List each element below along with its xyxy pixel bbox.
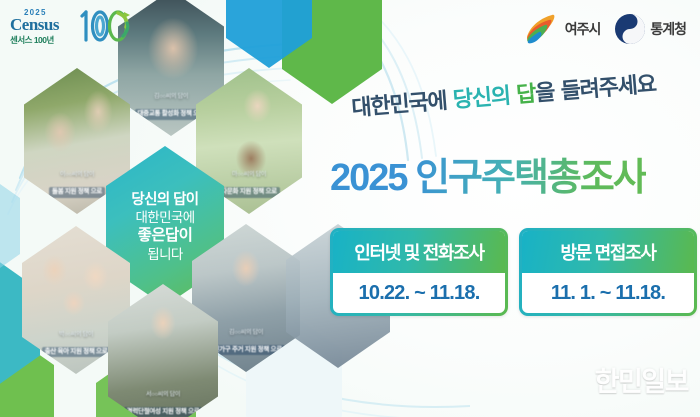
census-100-mark-icon	[74, 6, 132, 46]
headline-part-2: 당신의	[452, 82, 517, 113]
info-box-dates: 11. 1. ~ 11.18.	[522, 273, 694, 313]
yeoju-city-label: 여주시	[565, 19, 601, 39]
info-box-internet-phone: 인터넷 및 전화조사 10.22. ~ 11.18.	[330, 228, 508, 316]
headline-part-4: 을 들려주세요	[534, 71, 656, 107]
poster-canvas: 김○○씨의 답이 대중교통 활성화 정책 으로 이○○씨의 답이 돌봄 지원 정…	[0, 0, 700, 417]
census-logo-text: 2025 Census 센서스 100년	[10, 8, 59, 46]
yeoju-city-logo: 여주시	[523, 12, 601, 46]
headline-part-3: 답	[515, 81, 536, 108]
info-box-title: 방문 면접조사	[522, 231, 694, 273]
statistics-korea-logo: 통계청	[614, 13, 686, 45]
government-logos: 여주시 통계청	[523, 8, 686, 50]
yeoju-flame-icon	[523, 12, 561, 46]
statistics-korea-label: 통계청	[650, 19, 686, 39]
center-message-text: 당신의 답이 대한민국에 좋은답이 됩니다	[131, 189, 198, 264]
headline-part-1: 대한민국에	[351, 87, 454, 121]
census-logo: 2025 Census 센서스 100년	[6, 4, 132, 48]
info-box-dates: 10.22. ~ 11.18.	[333, 273, 505, 313]
taegeuk-circle-icon	[614, 13, 646, 45]
leaf-arrow-icon	[124, 12, 130, 18]
info-box-title: 인터넷 및 전화조사	[333, 231, 505, 273]
info-box-visit-interview: 방문 면접조사 11. 1. ~ 11.18.	[519, 228, 697, 316]
watermark: 한민일보	[595, 360, 688, 399]
page-title: 2025 인구주택총조사	[330, 146, 646, 201]
